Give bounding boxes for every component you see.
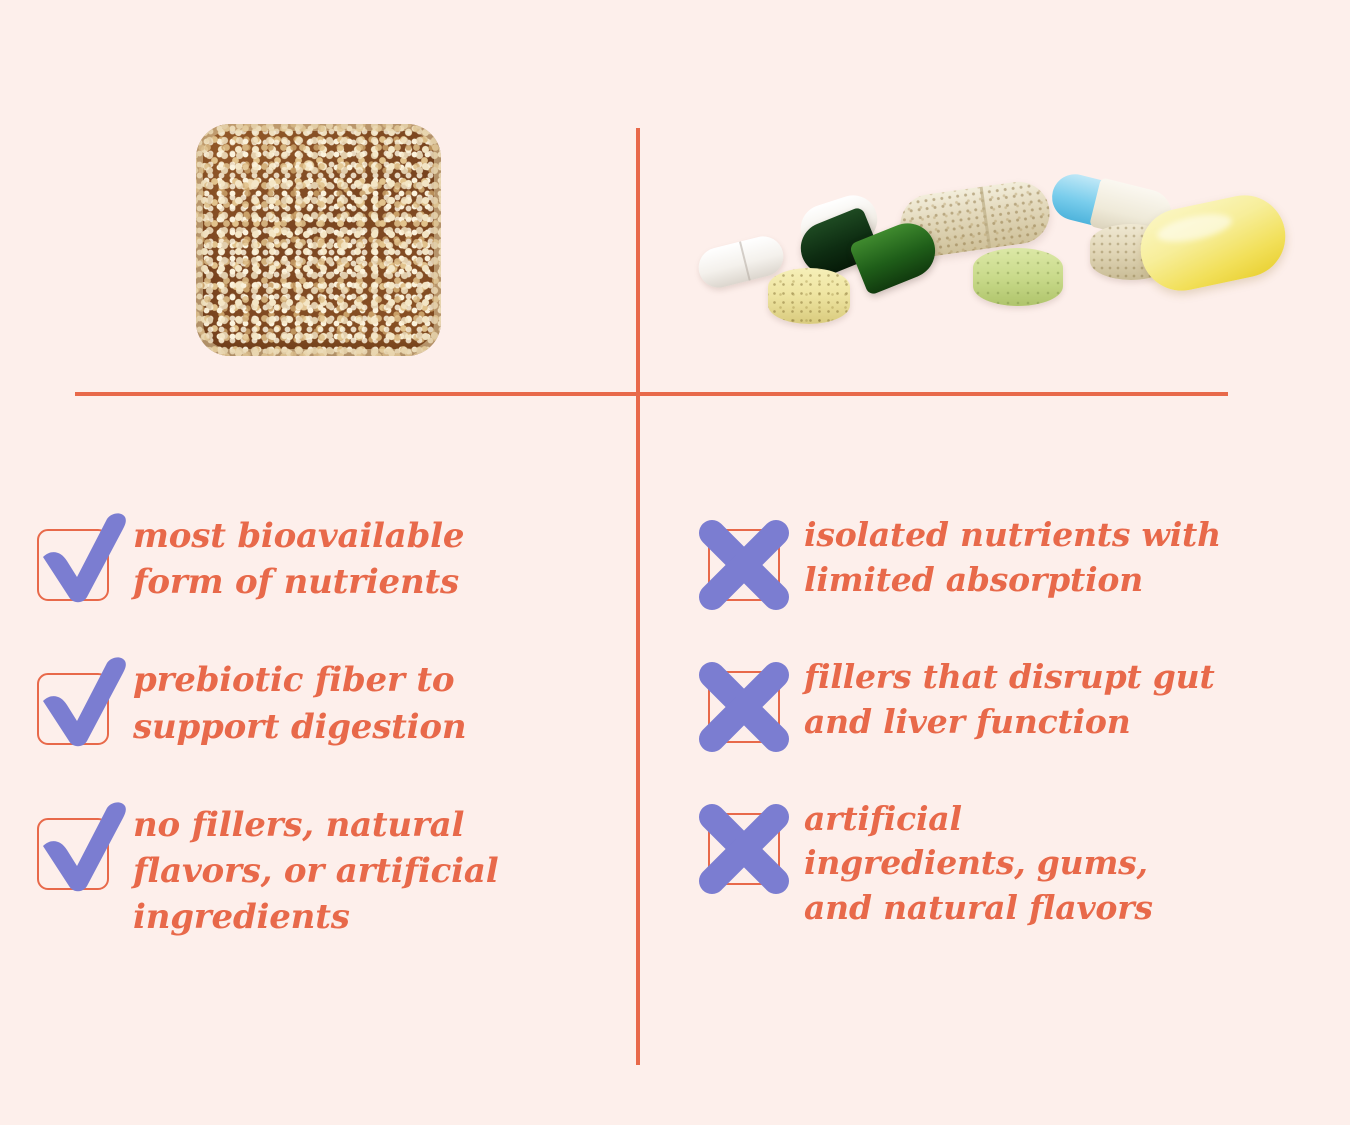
comparison-columns: most bioavailable form of nutrients preb… <box>0 0 1350 1125</box>
pro-column: most bioavailable form of nutrients preb… <box>37 505 597 941</box>
pro-item-text: most bioavailable form of nutrients <box>133 505 464 605</box>
con-item-text: isolated nutrients with limited absorpti… <box>804 505 1221 603</box>
pro-item-text: no fillers, natural flavors, or artifici… <box>133 794 498 941</box>
checkmark-icon <box>37 673 109 745</box>
x-mark-icon <box>708 813 780 885</box>
x-mark-icon <box>708 529 780 601</box>
checkmark-icon <box>37 529 109 601</box>
con-column: isolated nutrients with limited absorpti… <box>708 505 1288 931</box>
pro-list-item: prebiotic fiber to support digestion <box>37 649 597 749</box>
infographic-canvas: most bioavailable form of nutrients preb… <box>0 0 1350 1125</box>
pro-list-item: most bioavailable form of nutrients <box>37 505 597 605</box>
con-item-text: fillers that disrupt gut and liver funct… <box>804 647 1215 745</box>
con-list-item: isolated nutrients with limited absorpti… <box>708 505 1288 603</box>
x-mark-icon <box>708 671 780 743</box>
con-item-text: artificial ingredients, gums, and natura… <box>804 789 1153 932</box>
pro-item-text: prebiotic fiber to support digestion <box>133 649 466 749</box>
con-list-item: fillers that disrupt gut and liver funct… <box>708 647 1288 745</box>
pro-list-item: no fillers, natural flavors, or artifici… <box>37 794 597 941</box>
checkmark-icon <box>37 818 109 890</box>
con-list-item: artificial ingredients, gums, and natura… <box>708 789 1288 932</box>
